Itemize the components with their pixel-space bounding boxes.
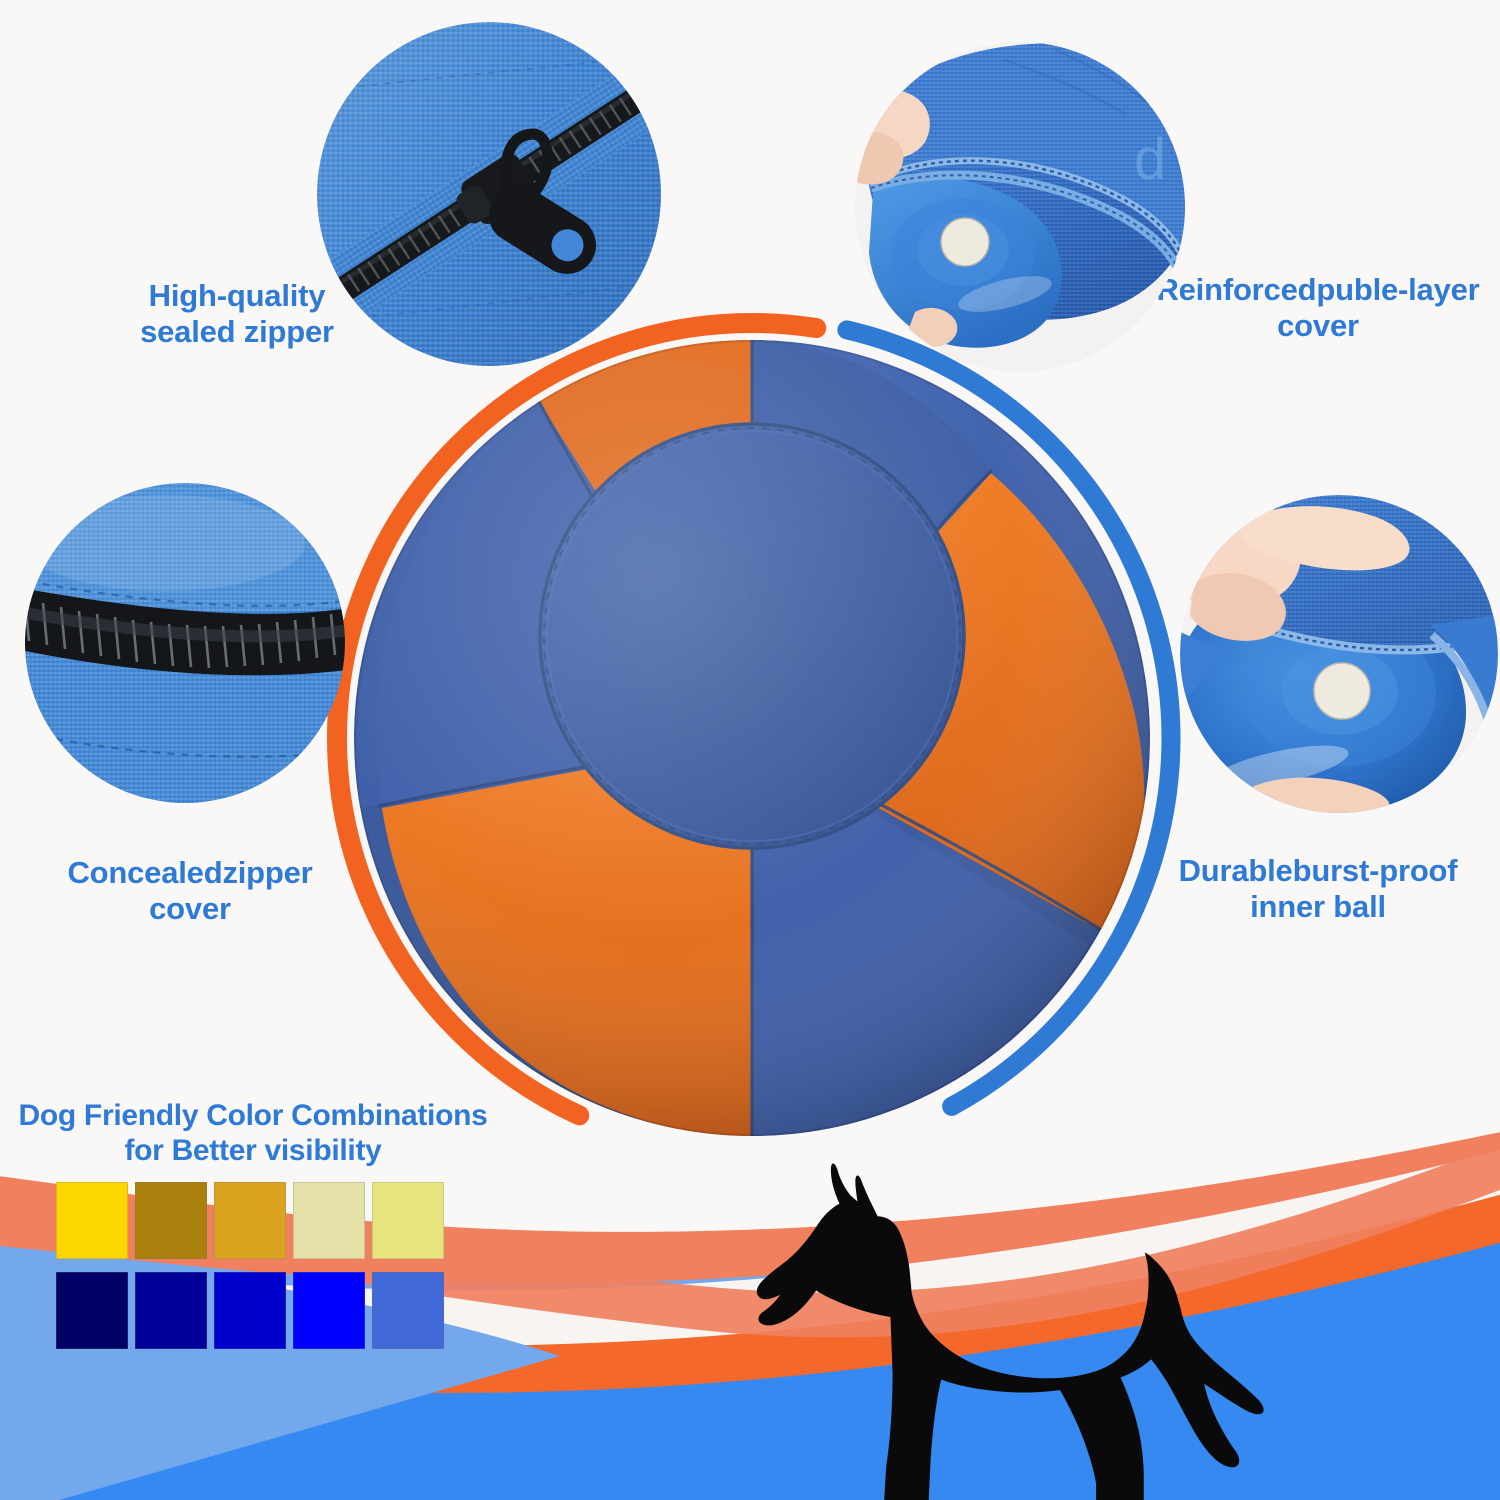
color-title-line1: Dog Friendly Color Combinations — [18, 1098, 488, 1133]
feature-label-line2: cover — [1142, 308, 1494, 344]
color-swatch-bright-yellow — [56, 1182, 128, 1259]
infographic-canvas: d High-quality sealed zipper Reinforcedp… — [0, 0, 1500, 1500]
color-swatch-deep-blue — [214, 1272, 286, 1349]
color-title-line2: for Better visibility — [18, 1133, 488, 1168]
color-swatch-light-yellow — [372, 1182, 444, 1259]
feature-label-line1: Concealedzipper — [30, 855, 350, 891]
yellow-swatch-row — [56, 1182, 488, 1259]
detail-photo-reinforced-cover — [855, 42, 1185, 372]
ball-shading — [354, 340, 1150, 1136]
detail-photo-concealed-zipper — [25, 483, 345, 803]
product-ball — [352, 338, 1152, 1138]
blue-swatch-row — [56, 1272, 488, 1349]
color-swatch-royal-blue — [372, 1272, 444, 1349]
feature-label-concealed-zipper: Concealedzipper cover — [30, 855, 350, 927]
color-swatch-dark-navy-blue — [135, 1272, 207, 1349]
feature-label-line2: inner ball — [1148, 889, 1488, 925]
feature-label-line1: Durableburst-proof — [1148, 853, 1488, 889]
detail-photo-sealed-zipper — [317, 22, 662, 367]
color-section-title: Dog Friendly Color Combinations for Bett… — [18, 1098, 488, 1168]
feature-label-inner-ball: Durableburst-proof inner ball — [1148, 853, 1488, 925]
feature-label-line2: cover — [30, 891, 350, 927]
feature-label-reinforced-cover: Reinforcedpuble-layer cover — [1142, 272, 1494, 344]
feature-label-line2: sealed zipper — [82, 314, 392, 350]
color-combination-section: Dog Friendly Color Combinations for Bett… — [18, 1098, 488, 1362]
feature-label-line1: Reinforcedpuble-layer — [1142, 272, 1494, 308]
ball-svg — [352, 338, 1152, 1138]
color-swatch-dark-gold — [135, 1182, 207, 1259]
color-swatch-pure-blue — [293, 1272, 365, 1349]
detail-photo-inner-ball — [1180, 495, 1498, 813]
color-swatch-navy — [56, 1272, 128, 1349]
color-swatch-medium-gold — [214, 1182, 286, 1259]
color-swatch-pale-cream — [293, 1182, 365, 1259]
